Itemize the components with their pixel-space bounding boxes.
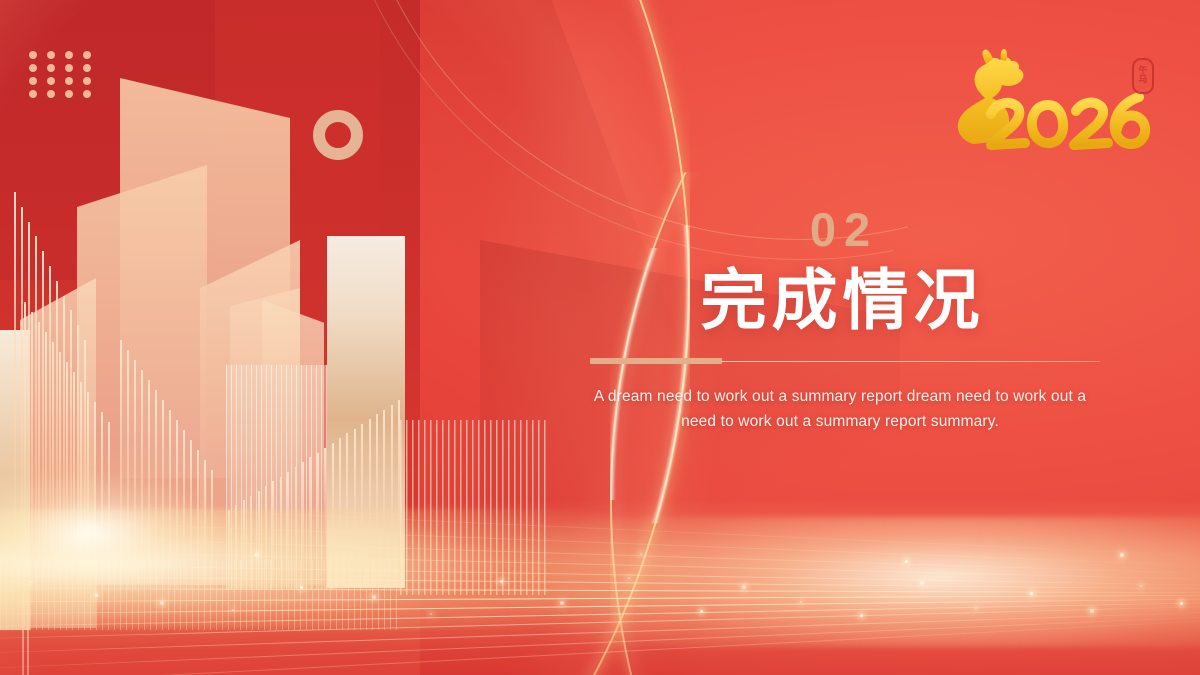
dot-grid-decoration — [24, 48, 96, 100]
year-2026-logo: 午 马 — [945, 48, 1160, 153]
sparkle — [640, 553, 642, 555]
grid-dot — [65, 90, 73, 98]
sparkle — [255, 553, 259, 557]
sparkle — [920, 581, 924, 585]
sparkle — [700, 610, 703, 613]
sparkle — [232, 609, 234, 611]
grid-dot — [29, 90, 37, 98]
sparkle — [1120, 553, 1124, 557]
presentation-slide: 午 马 02 完成情况 A dream need to work out a s… — [0, 0, 1200, 675]
sparkle — [372, 595, 376, 599]
slide-content: 02 完成情况 A dream need to work out a summa… — [580, 205, 1100, 434]
year-digits — [991, 97, 1145, 145]
divider-accent-bar — [590, 358, 722, 364]
section-number: 02 — [580, 205, 1100, 254]
grid-dot — [29, 64, 37, 72]
sparkle — [1030, 592, 1033, 595]
sparkle — [500, 580, 503, 583]
grid-dot — [65, 77, 73, 85]
sparkle — [1090, 609, 1094, 613]
sparkle — [1180, 602, 1183, 605]
seal-char-bottom: 马 — [1138, 76, 1147, 85]
sparkle — [30, 581, 32, 583]
grid-dot — [65, 51, 73, 59]
title-divider — [580, 358, 1100, 364]
sparkle — [742, 585, 746, 589]
sparkle — [860, 614, 863, 617]
sparkle — [95, 594, 98, 597]
sparkle — [975, 607, 977, 609]
grid-dot — [47, 77, 55, 85]
sparkle — [430, 613, 432, 615]
sparkle — [800, 601, 802, 603]
sparkle — [628, 577, 630, 579]
subtitle-text: A dream need to work out a summary repor… — [580, 384, 1100, 434]
grid-dot — [29, 77, 37, 85]
grid-dot — [83, 64, 91, 72]
sparkle — [560, 601, 564, 605]
grid-dot — [83, 90, 91, 98]
sparkle — [300, 586, 303, 589]
sparkle — [160, 601, 164, 605]
grid-dot — [47, 90, 55, 98]
grid-dot — [29, 51, 37, 59]
grid-dot — [65, 64, 73, 72]
grid-dot — [83, 51, 91, 59]
sparkle — [905, 560, 908, 563]
grid-dot — [47, 51, 55, 59]
sparkle — [1140, 585, 1142, 587]
zodiac-seal-stamp: 午 马 — [1132, 58, 1154, 94]
ring-decoration — [313, 110, 363, 160]
sparkle-particles — [0, 485, 1200, 675]
grid-dot — [83, 77, 91, 85]
grid-dot — [47, 64, 55, 72]
page-title: 完成情况 — [580, 262, 1100, 340]
